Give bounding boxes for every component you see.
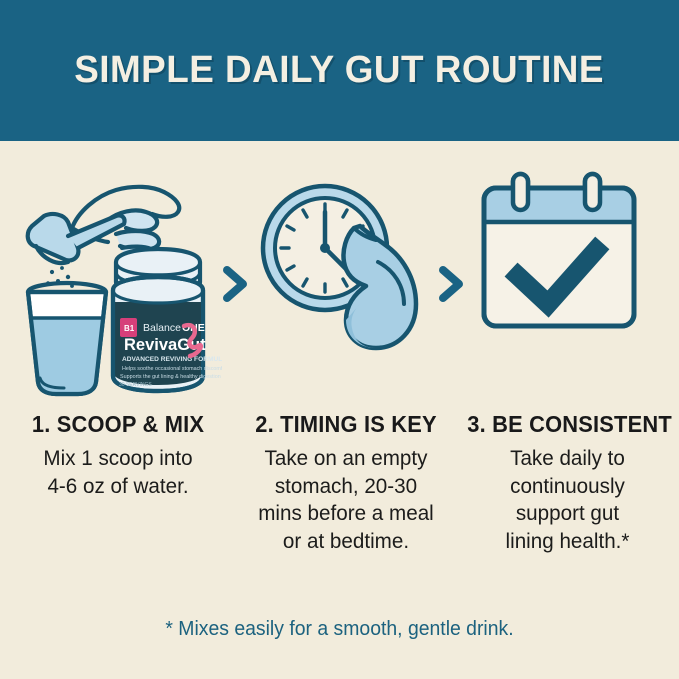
illustration-clock-stomach <box>250 150 440 400</box>
step-column-1: 1. SCOOP & MIX Mix 1 scoop into 4-6 oz o… <box>0 412 236 555</box>
svg-text:Balance: Balance <box>143 322 181 334</box>
step-body-1: Mix 1 scoop into 4-6 oz of water. <box>16 445 220 500</box>
page-title: SIMPLE DAILY GUT ROUTINE <box>75 49 605 92</box>
footnote: * Mixes easily for a smooth, gentle drin… <box>10 618 669 641</box>
svg-text:ADVANCED REVIVING FORMULA FOR: ADVANCED REVIVING FORMULA FOR GUT <box>122 356 222 363</box>
calendar-check-svg <box>468 150 658 400</box>
step-body-2: Take on an empty stomach, 20-30 mins bef… <box>246 445 446 555</box>
steps-row: 1. SCOOP & MIX Mix 1 scoop into 4-6 oz o… <box>0 412 679 555</box>
clock-stomach-svg <box>250 150 440 400</box>
step-column-2: 2. TIMING IS KEY Take on an empty stomac… <box>236 412 456 555</box>
step-body-3: Take daily to continuously support gut l… <box>466 445 669 555</box>
step-title-2: 2. TIMING IS KEY <box>247 412 445 437</box>
illustration-row: B1 Balance ONE RevivaGut ADVANCED REVIVI… <box>0 150 679 400</box>
infographic-canvas: SIMPLE DAILY GUT ROUTINE <box>0 0 679 679</box>
scoop-glass-jar-svg: B1 Balance ONE RevivaGut ADVANCED REVIVI… <box>12 150 222 400</box>
svg-text:30 SERVINGS: 30 SERVINGS <box>119 382 152 388</box>
header-band: SIMPLE DAILY GUT ROUTINE <box>0 0 679 141</box>
svg-text:B1: B1 <box>124 324 135 333</box>
illustration-scoop-glass-jar: B1 Balance ONE RevivaGut ADVANCED REVIVI… <box>12 150 222 400</box>
step-title-1: 1. SCOOP & MIX <box>17 412 218 437</box>
jar-label-text: B1 Balance ONE RevivaGut ADVANCED REVIVI… <box>119 318 222 388</box>
water-glass-icon <box>28 283 106 394</box>
step-column-3: 3. BE CONSISTENT Take daily to continuou… <box>456 412 679 555</box>
svg-text:Supports the gut lining & heal: Supports the gut lining & healthy digest… <box>120 374 221 380</box>
illustration-calendar-check <box>468 150 658 400</box>
svg-text:Helps soothe occasional stomac: Helps soothe occasional stomach discomfo… <box>122 366 222 372</box>
step-title-3: 3. BE CONSISTENT <box>467 412 667 437</box>
